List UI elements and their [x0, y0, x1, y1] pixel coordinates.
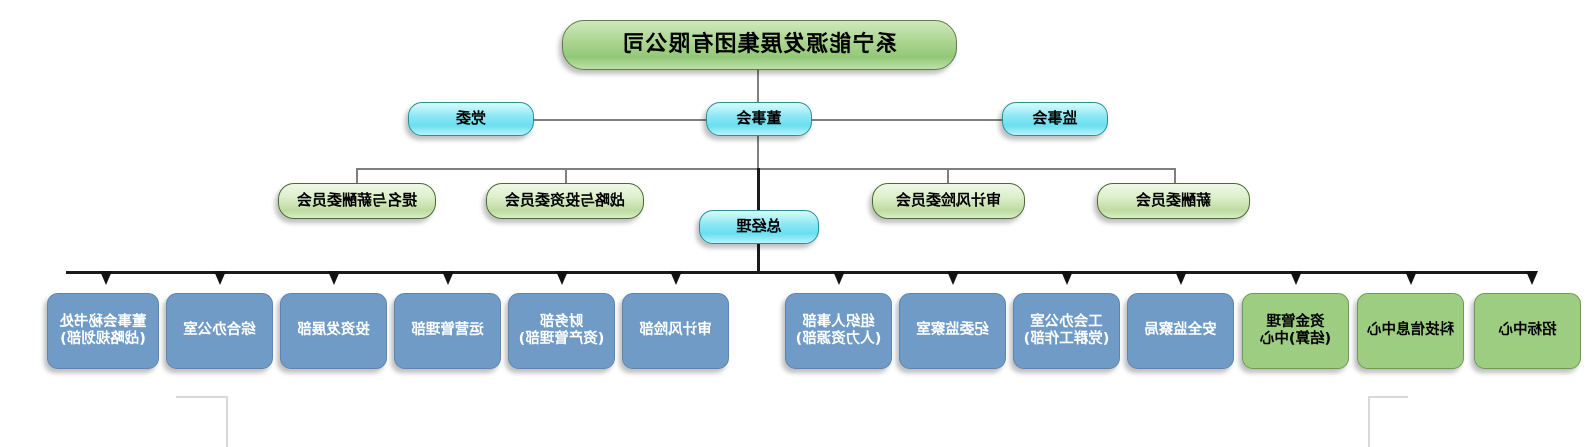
node-department-3[interactable]: 安全监察局: [1127, 293, 1234, 369]
node-department-1-label: 科技信息中心: [1358, 322, 1463, 339]
node-department-5-label: 纪委监察室: [900, 322, 1005, 339]
node-department-8[interactable]: 财务部 (资产管理部): [508, 293, 615, 369]
arrow-dept-10: [328, 271, 340, 285]
connector-board-to-gm: [757, 168, 760, 210]
connector-committee-drop-2: [947, 168, 949, 184]
node-committee-2[interactable]: 战略与投资委员会: [486, 183, 644, 219]
node-supervisors-label: 监事会: [1003, 110, 1107, 128]
node-department-10[interactable]: 投资发展部: [280, 293, 387, 369]
node-department-0-label: 招标中心: [1475, 322, 1580, 339]
connector-committee-drop-1: [1174, 168, 1176, 184]
node-committee-0-label: 薪酬委员会: [1098, 192, 1249, 210]
arrow-dept-2: [1290, 271, 1302, 285]
node-general-manager[interactable]: 总经理: [699, 210, 819, 244]
node-department-2-label2: (结算)中心: [1243, 331, 1348, 348]
connector-gm-to-bus: [757, 243, 760, 272]
arrow-dept-1: [1405, 271, 1417, 285]
node-committee-1[interactable]: 审计风险委员会: [872, 183, 1025, 219]
node-department-4-label: 工会办公室: [1014, 314, 1119, 331]
arrow-dept-9: [442, 271, 454, 285]
node-department-8-label2: (资产管理部): [509, 331, 614, 348]
node-committee-3-label: 提名与薪酬委员会: [279, 192, 435, 210]
connector-bottom-left-vertical: [1368, 396, 1370, 447]
node-department-6-label2: (人力资源部): [786, 331, 891, 348]
node-department-2-label: 资金管理: [1243, 314, 1348, 331]
node-department-7[interactable]: 审计风险部: [622, 293, 729, 369]
node-department-10-label: 投资发展部: [281, 322, 386, 339]
node-board-of-directors-label: 董事会: [707, 110, 811, 128]
node-department-9[interactable]: 运营管理部: [394, 293, 501, 369]
node-department-6[interactable]: 组织人事部 (人力资源部): [785, 293, 892, 369]
node-committee-3[interactable]: 提名与薪酬委员会: [278, 183, 436, 219]
node-department-12-label: 董事会秘书处: [48, 314, 158, 331]
node-supervisors[interactable]: 监事会: [1002, 102, 1108, 136]
node-company-root-label: 系宁能源发展集团有限公司: [563, 32, 956, 58]
connector-department-bus: [66, 271, 1532, 274]
arrow-dept-6: [833, 271, 845, 285]
node-department-5[interactable]: 纪委监察室: [899, 293, 1006, 369]
arrow-dept-7: [670, 271, 682, 285]
node-department-0[interactable]: 招标中心: [1474, 293, 1581, 369]
node-department-9-label: 运营管理部: [395, 322, 500, 339]
arrow-dept-3: [1175, 271, 1187, 285]
node-company-root[interactable]: 系宁能源发展集团有限公司: [562, 20, 957, 70]
node-general-manager-label: 总经理: [700, 218, 818, 236]
node-department-2[interactable]: 资金管理 (结算)中心: [1242, 293, 1349, 369]
connector-root-to-board: [757, 70, 759, 104]
arrow-dept-12: [100, 271, 112, 285]
arrow-dept-5: [947, 271, 959, 285]
node-board-of-directors[interactable]: 董事会: [706, 102, 812, 136]
node-committee-2-label: 战略与投资委员会: [487, 192, 643, 210]
org-chart-canvas: 系宁能源发展集团有限公司 监事会 董事会 党委 总经理 薪酬委员会 审计风险委员…: [0, 0, 1594, 447]
node-department-12-label2: (战略规划部): [48, 331, 158, 348]
node-department-3-label: 安全监察局: [1128, 322, 1233, 339]
connector-bottom-left-horizontal: [1368, 396, 1408, 398]
node-department-8-label: 财务部: [509, 314, 614, 331]
connector-bottom-right-vertical: [226, 396, 228, 447]
arrow-dept-4: [1061, 271, 1073, 285]
connector-committee-drop-4: [356, 168, 358, 184]
node-department-1[interactable]: 科技信息中心: [1357, 293, 1464, 369]
connector-committee-bus: [356, 168, 1176, 170]
arrow-dept-8: [556, 271, 568, 285]
node-department-11-label: 综合办公室: [167, 322, 272, 339]
node-party-committee-label: 党委: [409, 110, 533, 128]
arrow-dept-11: [214, 271, 226, 285]
node-department-12[interactable]: 董事会秘书处 (战略规划部): [47, 293, 159, 369]
node-department-6-label: 组织人事部: [786, 314, 891, 331]
node-department-4[interactable]: 工会办公室 (党群工作部): [1013, 293, 1120, 369]
node-committee-0[interactable]: 薪酬委员会: [1097, 183, 1250, 219]
node-committee-1-label: 审计风险委员会: [873, 192, 1024, 210]
node-department-11[interactable]: 综合办公室: [166, 293, 273, 369]
connector-committee-drop-3: [565, 168, 567, 184]
connector-bottom-right-horizontal: [176, 396, 228, 398]
node-party-committee[interactable]: 党委: [408, 102, 534, 136]
node-department-4-label2: (党群工作部): [1014, 331, 1119, 348]
arrow-dept-0: [1526, 271, 1538, 285]
node-department-7-label: 审计风险部: [623, 322, 728, 339]
